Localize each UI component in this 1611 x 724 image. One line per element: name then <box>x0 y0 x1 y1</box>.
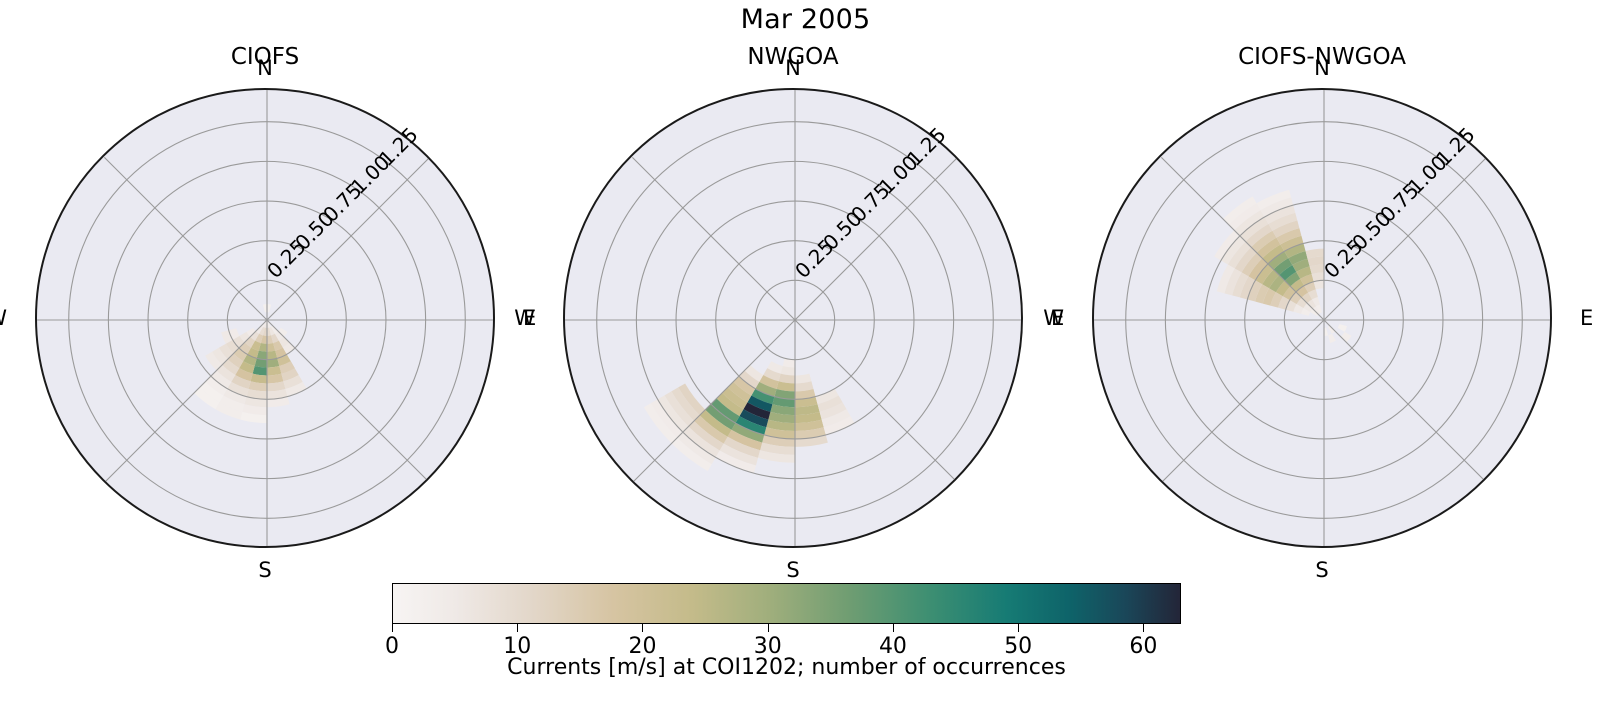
cardinal-label-w: W <box>1043 306 1064 330</box>
polar-grid <box>37 90 495 548</box>
cardinal-label-n: N <box>257 56 273 80</box>
polar-data-cells <box>644 358 855 473</box>
polar-plot-area <box>563 88 1023 548</box>
colorbar-tick-mark <box>768 624 769 632</box>
colorbar-tick-label: 60 <box>1129 634 1157 659</box>
polar-cell <box>1338 324 1347 332</box>
cardinal-label-n: N <box>1314 56 1330 80</box>
polar-cell <box>267 304 271 312</box>
polar-grid-spoke <box>1324 320 1487 483</box>
cardinal-label-s: S <box>258 558 271 582</box>
polar-grid <box>1094 90 1552 548</box>
colorbar-axis-label: Currents [m/s] at COI1202; number of occ… <box>507 655 1066 680</box>
polar-grid-spoke <box>267 320 430 483</box>
polar-cell <box>1341 332 1352 343</box>
colorbar-gradient <box>392 583 1181 624</box>
polar-cell <box>1328 334 1336 343</box>
colorbar-tick-label: 0 <box>385 634 399 659</box>
polar-grid-spoke <box>1161 320 1324 483</box>
cardinal-label-e: E <box>1580 306 1593 330</box>
cardinal-label-w: W <box>514 306 535 330</box>
cardinal-label-s: S <box>1315 558 1328 582</box>
colorbar-tick-mark <box>517 624 518 632</box>
cardinal-label-n: N <box>785 56 801 80</box>
cardinal-label-s: S <box>786 558 799 582</box>
colorbar-tick-mark <box>1143 624 1144 632</box>
cardinal-label-w: W <box>0 306 7 330</box>
polar-axes-ciofs-nwgoa: CIOFS-NWGOANESW0.250.500.751.001.25 <box>1092 88 1552 548</box>
polar-axes-nwgoa: NWGOANESW0.250.500.751.001.25 <box>563 88 1023 548</box>
polar-data-cells <box>194 304 307 423</box>
polar-axes-ciofs: CIOFSNESW0.250.500.751.001.25 <box>35 88 495 548</box>
figure-suptitle: Mar 2005 <box>0 4 1611 35</box>
figure-canvas: Mar 2005 CIOFSNESW0.250.500.751.001.25NW… <box>0 0 1611 724</box>
polar-cell <box>263 304 267 312</box>
colorbar-tick-mark <box>392 624 393 632</box>
colorbar-tick-mark <box>1018 624 1019 632</box>
polar-grid-spoke <box>632 157 795 320</box>
polar-plot-area <box>35 88 495 548</box>
colorbar-tick-mark <box>893 624 894 632</box>
polar-cell <box>1324 328 1328 336</box>
polar-grid <box>565 90 1023 548</box>
colorbar-container: 0102030405060 Currents [m/s] at COI1202;… <box>392 583 1181 624</box>
colorbar-tick-mark <box>642 624 643 632</box>
polar-grid-spoke <box>104 157 267 320</box>
polar-plot-area <box>1092 88 1552 548</box>
